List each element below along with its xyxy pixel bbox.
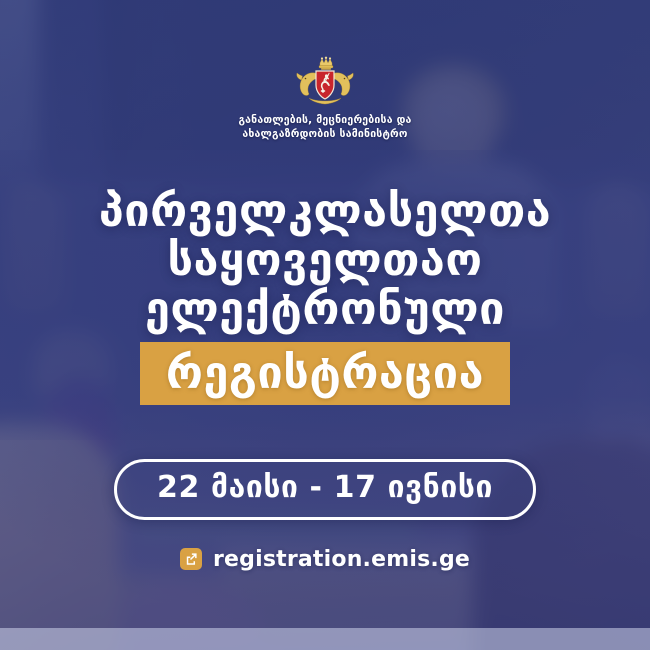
ministry-name: განათლების, მეცნიერებისა და ახალგაზრდობი…: [238, 113, 411, 142]
ministry-brand: განათლების, მეცნიერებისა და ახალგაზრდობი…: [238, 56, 411, 142]
registration-poster: განათლების, მეცნიერებისა და ახალგაზრდობი…: [0, 0, 650, 650]
highlight-wrapper: რეგისტრაცია: [140, 342, 510, 405]
ministry-name-line-1: განათლების, მეცნიერებისა და: [238, 114, 411, 126]
headline: პირველკლასელთა საყოველთაო ელექტრონული: [99, 186, 551, 333]
poster-content: განათლების, მეცნიერებისა და ახალგაზრდობი…: [0, 0, 650, 650]
registration-link[interactable]: registration.emis.ge: [180, 547, 470, 572]
headline-line-3: ელექტრონული: [99, 284, 551, 333]
date-range-pill: 22 მაისი - 17 ივნისი: [114, 459, 536, 519]
headline-line-2: საყოველთაო: [99, 235, 551, 284]
registration-highlight-badge: რეგისტრაცია: [140, 342, 510, 405]
georgian-coat-of-arms-icon: [292, 56, 358, 106]
external-link-icon: [180, 548, 202, 570]
headline-line-1: პირველკლასელთა: [99, 186, 551, 235]
ministry-name-line-2: ახალგაზრდობის სამინისტრო: [242, 128, 407, 140]
registration-url[interactable]: registration.emis.ge: [213, 547, 470, 572]
